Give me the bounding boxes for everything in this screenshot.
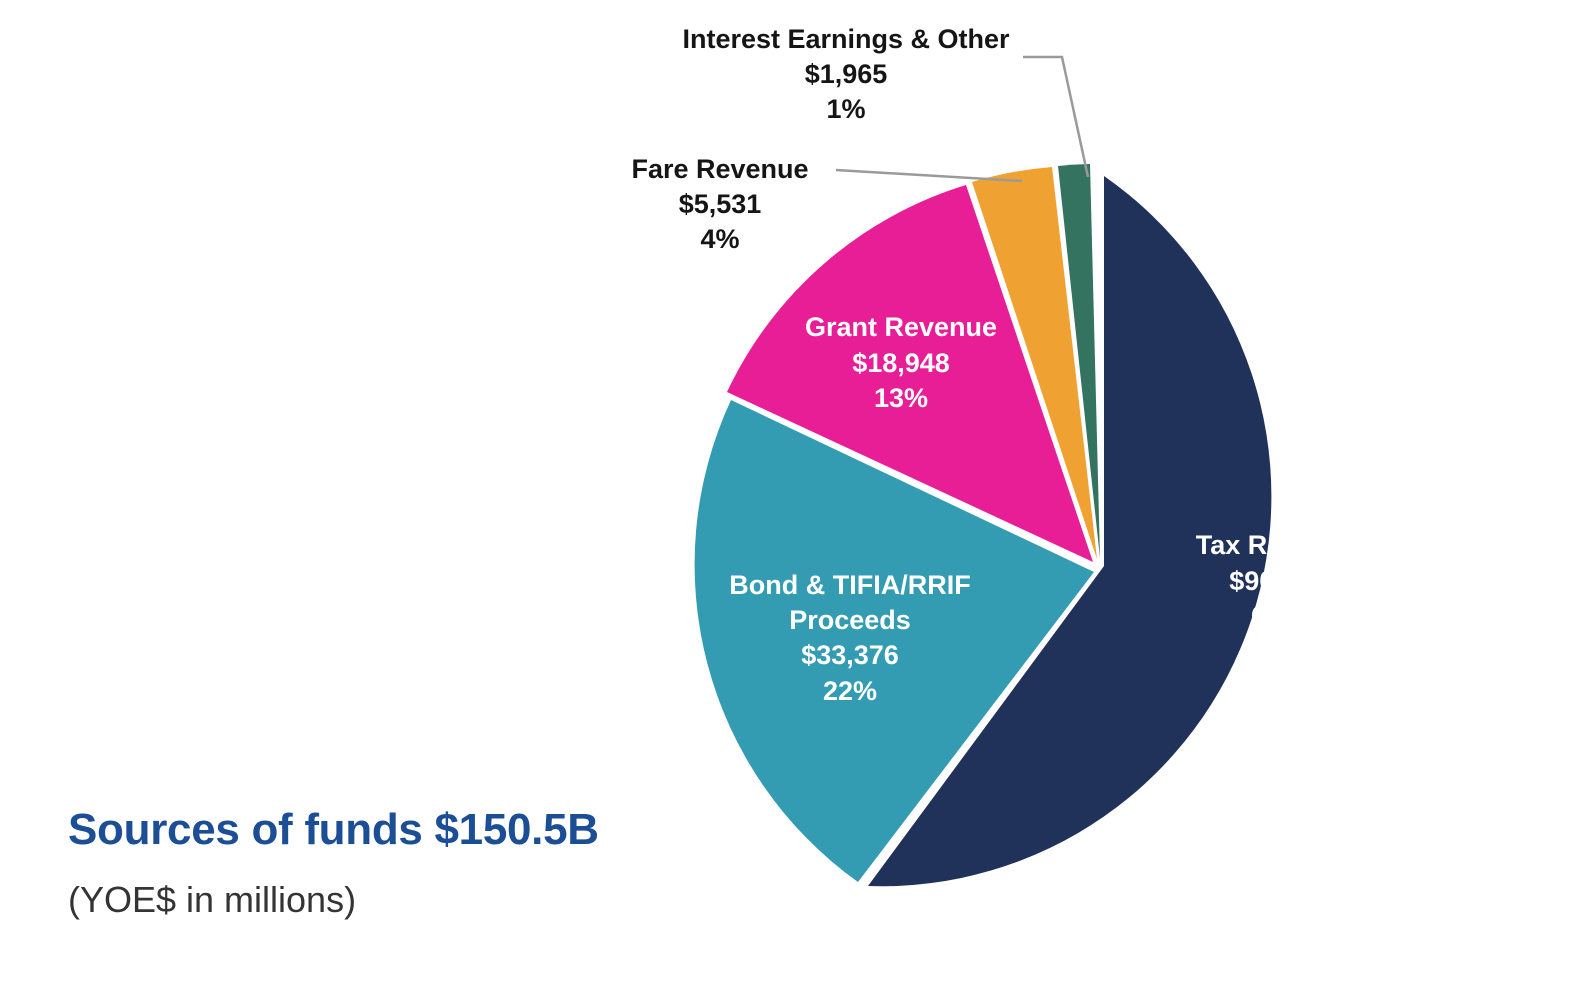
- callout-label-fare-revenue: Fare Revenue $5,531 4%: [600, 152, 840, 257]
- slice-label-grant-revenue: Grant Revenue $18,948 13%: [778, 310, 1024, 417]
- slice-label-tax-revenue: Tax Revenue $90,647 60%: [1146, 528, 1410, 635]
- callout-label-interest-earnings-other: Interest Earnings & Other $1,965 1%: [660, 22, 1032, 127]
- slice-label-grant-revenue-name: Grant Revenue: [778, 310, 1024, 346]
- chart-title: Sources of funds $150.5B: [68, 806, 768, 854]
- slice-label-bond-tifia-rrif-proceeds-value: $33,376: [700, 638, 1000, 674]
- slice-label-grant-revenue-value: $18,948: [778, 346, 1024, 382]
- slice-label-grant-revenue-percent: 13%: [778, 381, 1024, 417]
- slice-label-tax-revenue-percent: 60%: [1146, 599, 1410, 635]
- slice-label-bond-tifia-rrif-proceeds: Bond & TIFIA/RRIF Proceeds $33,376 22%: [700, 568, 1000, 709]
- leader-line-fare-revenue: [836, 170, 1022, 181]
- slice-label-bond-tifia-rrif-proceeds-name: Bond & TIFIA/RRIF Proceeds: [700, 568, 1000, 638]
- leader-line-interest-earnings-other: [1023, 57, 1088, 177]
- chart-caption: Sources of funds $150.5B (YOE$ in millio…: [68, 806, 768, 919]
- callout-label-interest-earnings-other-percent: 1%: [660, 92, 1032, 127]
- callout-label-interest-earnings-other-value: $1,965: [660, 57, 1032, 92]
- callout-label-fare-revenue-name: Fare Revenue: [600, 152, 840, 187]
- callout-label-fare-revenue-percent: 4%: [600, 222, 840, 257]
- pie-chart-figure: Interest Earnings & Other $1,965 1% Fare…: [0, 0, 1590, 987]
- slice-label-tax-revenue-name: Tax Revenue: [1146, 528, 1410, 564]
- slice-label-tax-revenue-value: $90,647: [1146, 564, 1410, 600]
- slice-label-bond-tifia-rrif-proceeds-percent: 22%: [700, 674, 1000, 710]
- callout-label-interest-earnings-other-name: Interest Earnings & Other: [660, 22, 1032, 57]
- chart-subtitle: (YOE$ in millions): [68, 880, 768, 920]
- callout-label-fare-revenue-value: $5,531: [600, 187, 840, 222]
